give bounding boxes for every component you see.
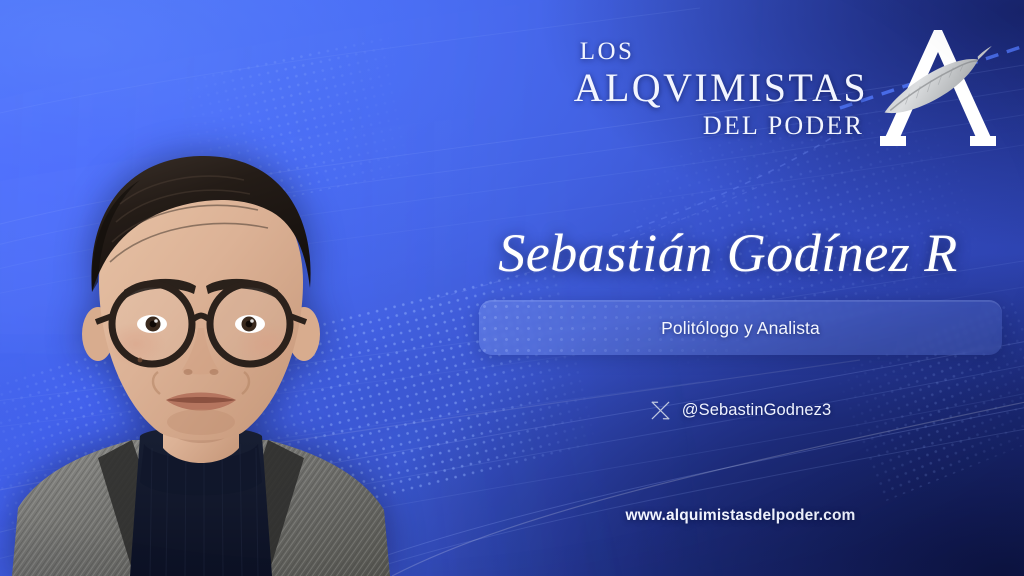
brand-logo-text: LOS ALQVIMISTAS DEL PODER: [574, 39, 868, 139]
brand-logo-line-los: LOS: [580, 39, 635, 64]
brand-logo-line-main: ALQVIMISTAS: [574, 68, 868, 108]
x-twitter-icon: [650, 400, 671, 421]
person-role-label: Politólogo y Analista: [661, 318, 820, 339]
lower-third-graphic: LOS ALQVIMISTAS DEL PODER: [0, 0, 1024, 576]
brand-logo-line-sub: DEL PODER: [703, 113, 864, 139]
social-handle-text: @SebastinGodnez3: [682, 401, 832, 420]
person-name: Sebastián Godínez R: [454, 222, 1002, 284]
website-url[interactable]: www.alquimistasdelpoder.com: [479, 507, 1002, 525]
portrait-photo: [0, 76, 400, 576]
brand-monogram-a-icon: [874, 24, 1002, 154]
feather-quill-icon: [876, 46, 1001, 115]
brand-logo[interactable]: LOS ALQVIMISTAS DEL PODER: [574, 24, 1002, 154]
person-role-bar: Politólogo y Analista: [479, 300, 1002, 355]
social-handle-row[interactable]: @SebastinGodnez3: [479, 400, 1002, 421]
facial-mole: [138, 358, 143, 363]
